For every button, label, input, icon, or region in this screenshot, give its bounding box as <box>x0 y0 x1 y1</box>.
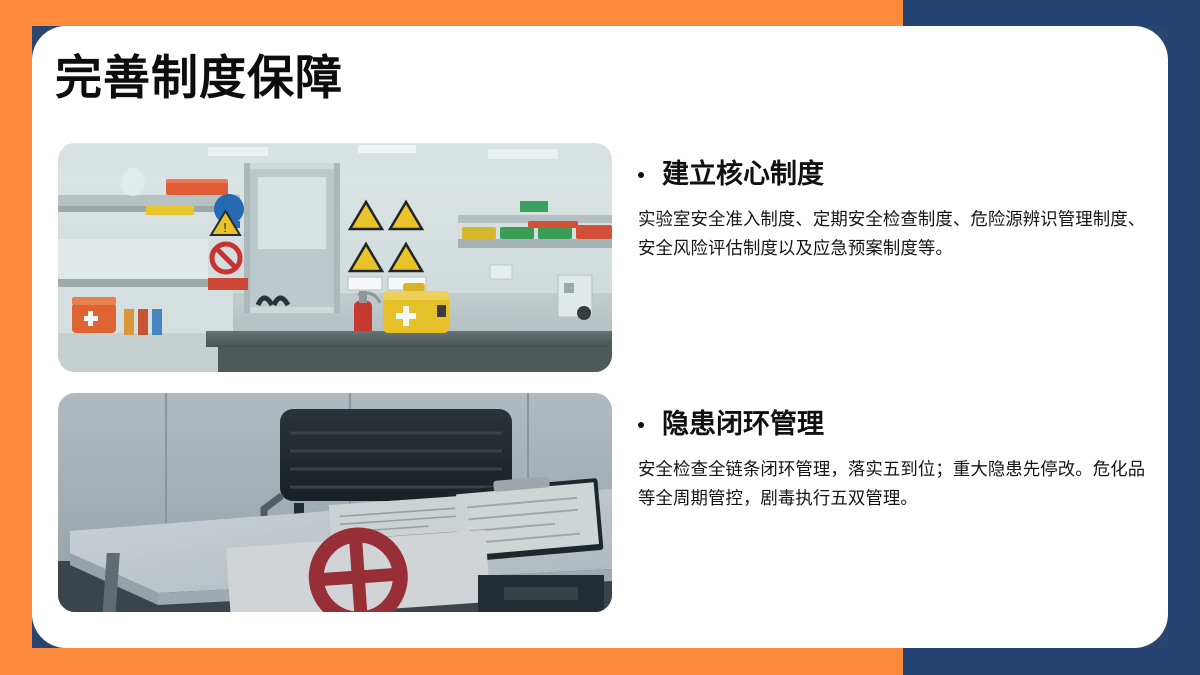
presentation-slide: 完善制度保障 <box>0 0 1200 675</box>
bullet-point-icon <box>638 422 644 428</box>
content-block-core-systems: 建立核心制度 实验室安全准入制度、定期安全检查制度、危险源辨识管理制度、安全风险… <box>638 158 1148 263</box>
page-title: 完善制度保障 <box>55 50 343 106</box>
block-heading-label: 隐患闭环管理 <box>662 408 824 442</box>
block-heading-label: 建立核心制度 <box>662 158 824 192</box>
decoration-orange-top-band <box>0 0 903 26</box>
decoration-navy-top-band <box>903 0 1200 26</box>
content-block-closed-loop: 隐患闭环管理 安全检查全链条闭环管理，落实五到位；重大隐患先停改。危化品等全周期… <box>638 408 1148 513</box>
decoration-navy-bottom-band <box>903 648 1200 675</box>
laboratory-corridor-photo: ! <box>58 143 612 372</box>
block-heading-core-systems: 建立核心制度 <box>638 158 1148 192</box>
decoration-orange-left-band <box>0 0 32 675</box>
block-body-closed-loop: 安全检查全链条闭环管理，落实五到位；重大隐患先停改。危化品等全周期管控，剧毒执行… <box>638 455 1148 513</box>
decoration-navy-right-band <box>1168 0 1200 675</box>
block-body-core-systems: 实验室安全准入制度、定期安全检查制度、危险源辨识管理制度、安全风险评估制度以及应… <box>638 205 1148 263</box>
block-heading-closed-loop: 隐患闭环管理 <box>638 408 1148 442</box>
bullet-point-icon <box>638 172 644 178</box>
office-desk-inspection-photo <box>58 393 612 612</box>
decoration-orange-bottom-band <box>0 648 903 675</box>
laboratory-corridor-illustration: ! <box>58 143 612 372</box>
office-desk-illustration <box>58 393 612 612</box>
